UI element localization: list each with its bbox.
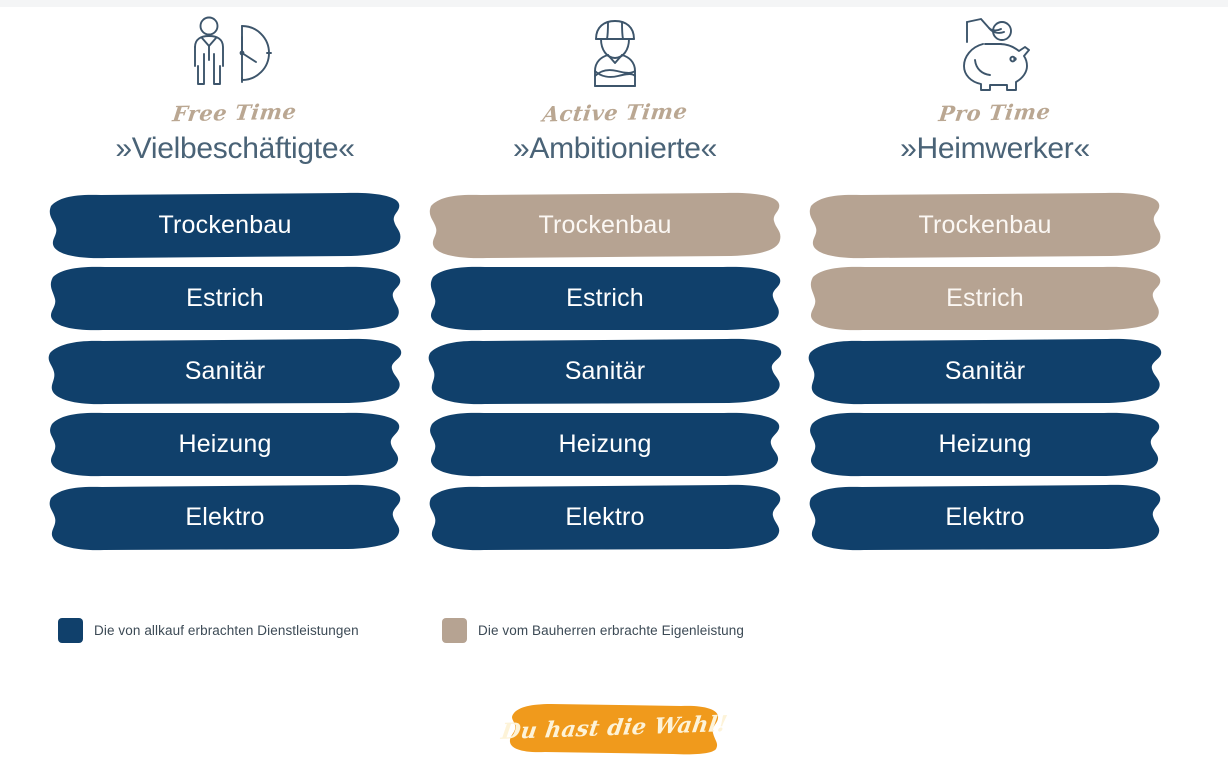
service-bar[interactable]: Heizung xyxy=(425,409,785,479)
column-bars: Trockenbau Estrich Sanitär xyxy=(45,190,425,552)
service-bar[interactable]: Elektro xyxy=(425,482,785,552)
worker-with-helmet-icon xyxy=(565,12,665,96)
cta-badge-container: Du hast die Wahl! xyxy=(0,700,1228,756)
brush-stroke-shape xyxy=(805,482,1165,552)
legend-label: Die von allkauf erbrachten Dienstleistun… xyxy=(94,623,359,638)
brush-stroke-shape xyxy=(425,263,785,333)
person-with-clock-icon xyxy=(185,12,285,96)
legend-label: Die vom Bauherren erbrachte Eigenleistun… xyxy=(478,623,744,638)
plan-column-vielbeschaeftigte: Free Time »Vielbeschäftigte« Trockenbau … xyxy=(45,0,425,555)
brush-stroke-shape xyxy=(805,263,1165,333)
brush-stroke-shape xyxy=(805,409,1165,479)
service-bar[interactable]: Sanitär xyxy=(805,336,1165,406)
service-bar[interactable]: Sanitär xyxy=(45,336,405,406)
column-script-label: Active Time xyxy=(541,100,688,124)
service-bar[interactable]: Estrich xyxy=(805,263,1165,333)
column-header: Pro Time »Heimwerker« xyxy=(805,0,1185,188)
legend-item-dienstleistungen: Die von allkauf erbrachten Dienstleistun… xyxy=(58,618,359,643)
legend-swatch-navy xyxy=(58,618,83,643)
service-bar[interactable]: Estrich xyxy=(425,263,785,333)
service-bar[interactable]: Trockenbau xyxy=(805,190,1165,260)
brush-stroke-shape xyxy=(45,409,405,479)
column-title: »Vielbeschäftigte« xyxy=(115,132,354,165)
brush-stroke-shape xyxy=(805,336,1165,406)
service-bar[interactable]: Elektro xyxy=(45,482,405,552)
service-bar[interactable]: Trockenbau xyxy=(425,190,785,260)
column-header: Active Time »Ambitionierte« xyxy=(425,0,805,188)
brush-stroke-shape xyxy=(805,190,1165,260)
service-bar[interactable]: Trockenbau xyxy=(45,190,405,260)
service-bar[interactable]: Estrich xyxy=(45,263,405,333)
column-title: »Heimwerker« xyxy=(900,132,1090,165)
column-script-label: Pro Time xyxy=(938,101,1052,124)
service-bar[interactable]: Sanitär xyxy=(425,336,785,406)
service-bar[interactable]: Elektro xyxy=(805,482,1165,552)
brush-stroke-shape xyxy=(45,263,405,333)
infographic-root: Free Time »Vielbeschäftigte« Trockenbau … xyxy=(0,0,1228,783)
service-bar[interactable]: Heizung xyxy=(805,409,1165,479)
column-bars: Trockenbau Estrich Sanitär xyxy=(425,190,805,552)
column-title: »Ambitionierte« xyxy=(513,132,717,165)
brush-stroke-shape xyxy=(45,482,405,552)
brush-stroke-shape xyxy=(45,336,405,406)
brush-stroke-shape xyxy=(425,409,785,479)
legend-item-eigenleistung: Die vom Bauherren erbrachte Eigenleistun… xyxy=(442,618,744,643)
brush-stroke-shape xyxy=(425,190,785,260)
column-script-label: Free Time xyxy=(172,101,298,125)
plan-column-ambitionierte: Active Time »Ambitionierte« Trockenbau E… xyxy=(425,0,805,555)
legend: Die von allkauf erbrachten Dienstleistun… xyxy=(0,618,1228,658)
column-bars: Trockenbau Estrich Sanitär xyxy=(805,190,1185,552)
legend-swatch-tan xyxy=(442,618,467,643)
piggy-bank-with-coin-icon xyxy=(945,12,1045,96)
brush-stroke-shape xyxy=(425,336,785,406)
plan-columns: Free Time »Vielbeschäftigte« Trockenbau … xyxy=(0,0,1228,600)
plan-column-heimwerker: Pro Time »Heimwerker« Trockenbau Estrich xyxy=(805,0,1185,555)
brush-stroke-shape xyxy=(45,190,405,260)
service-bar[interactable]: Heizung xyxy=(45,409,405,479)
column-header: Free Time »Vielbeschäftigte« xyxy=(45,0,425,188)
brush-stroke-shape xyxy=(425,482,785,552)
cta-badge[interactable]: Du hast die Wahl! xyxy=(505,700,723,756)
